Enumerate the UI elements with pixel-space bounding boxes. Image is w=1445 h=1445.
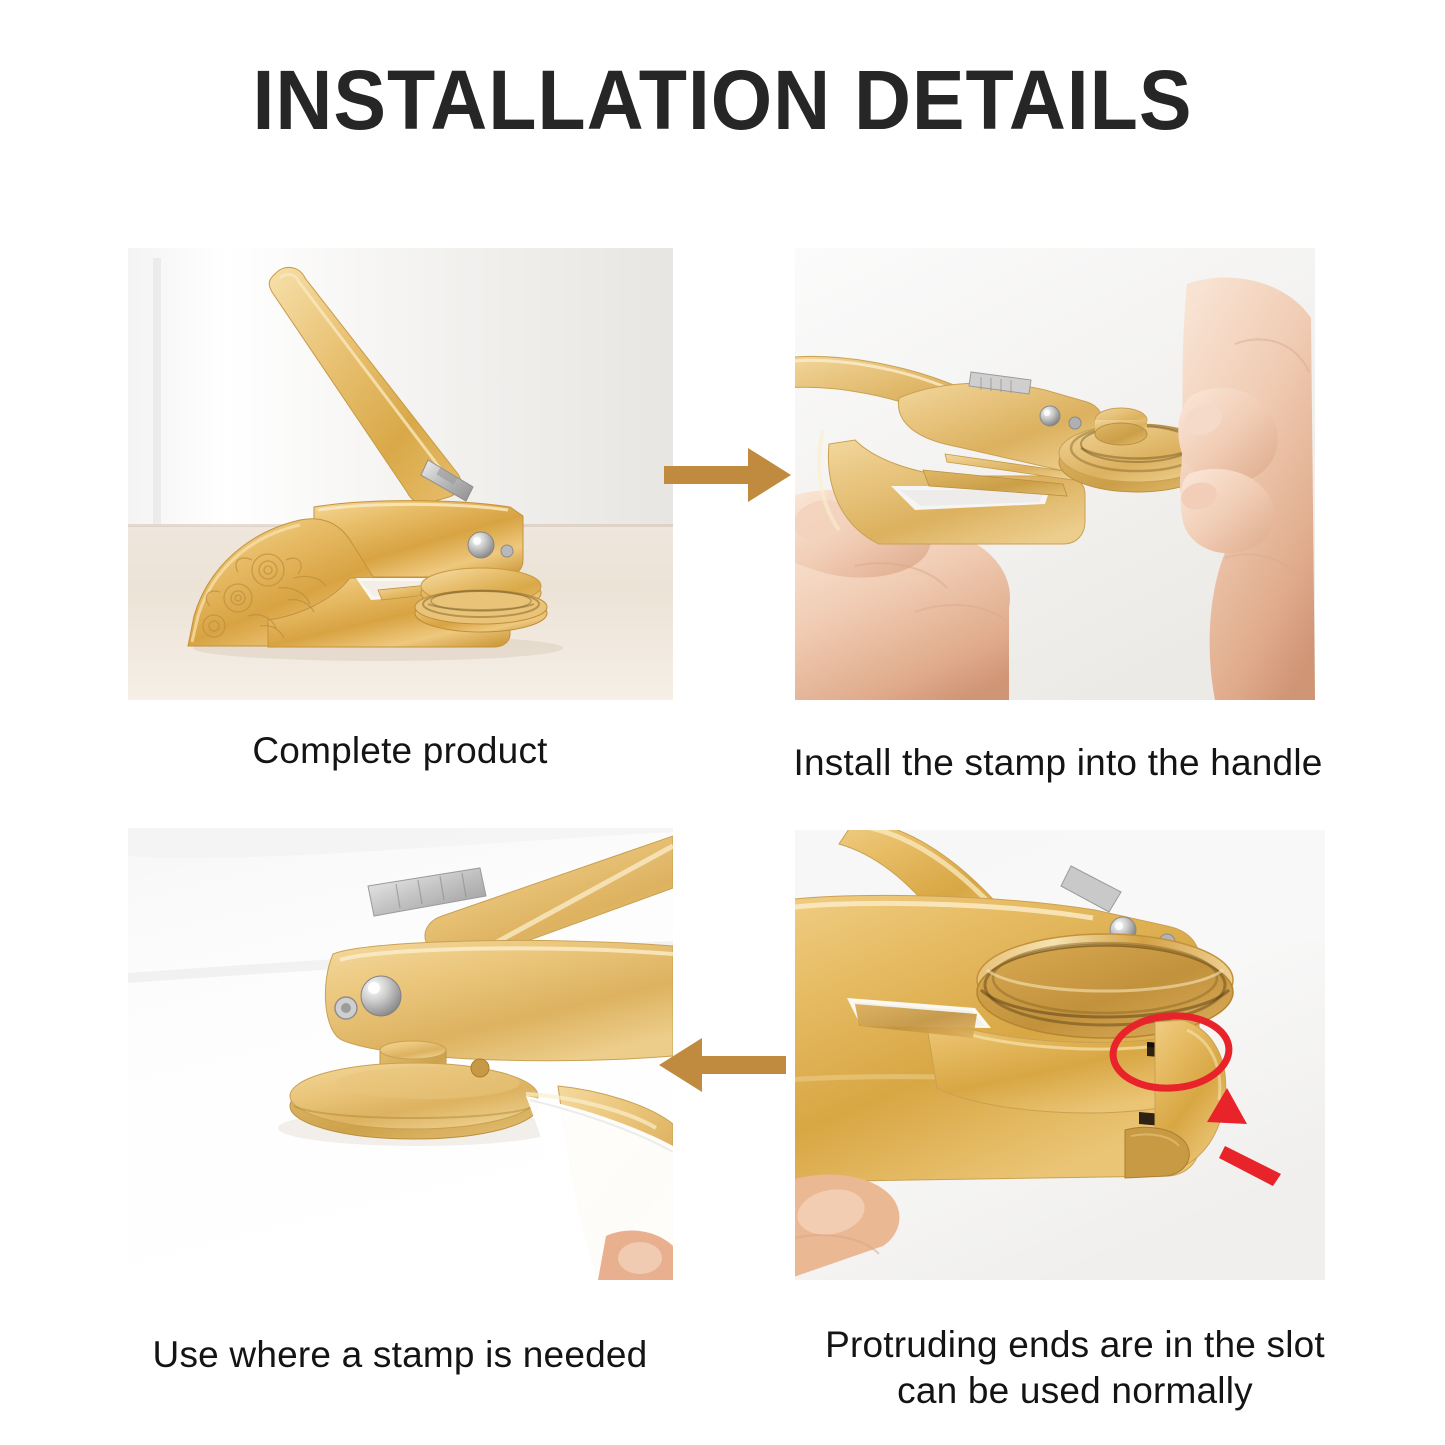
page-title: INSTALLATION DETAILS [43, 58, 1401, 142]
step-3-photo [128, 828, 673, 1280]
photo-svg-complete-product [128, 248, 673, 700]
photo-complete-product [128, 248, 673, 700]
photo-svg-use-stamp [128, 828, 673, 1280]
photo-use-stamp [128, 828, 673, 1280]
flow-arrow-right [660, 440, 795, 510]
step-4-caption: Protruding ends are in the slot can be u… [730, 1322, 1420, 1415]
step-2-caption: Install the stamp into the handle [718, 740, 1398, 786]
step-3-caption: Use where a stamp is needed [60, 1332, 740, 1378]
photo-svg-slot-detail [795, 830, 1325, 1280]
photo-install-stamp [795, 248, 1315, 700]
arrow-left-icon [655, 1030, 790, 1100]
step-1-caption: Complete product [100, 728, 700, 774]
step-2-photo [795, 248, 1315, 700]
photo-slot-detail [795, 830, 1325, 1280]
step-1-photo [128, 248, 673, 700]
flow-arrow-left [655, 1030, 790, 1100]
step-4-photo [795, 830, 1325, 1280]
arrow-right-icon [660, 440, 795, 510]
installation-details-infographic: INSTALLATION DETAILS [0, 0, 1445, 1445]
photo-svg-install-stamp [795, 248, 1315, 700]
